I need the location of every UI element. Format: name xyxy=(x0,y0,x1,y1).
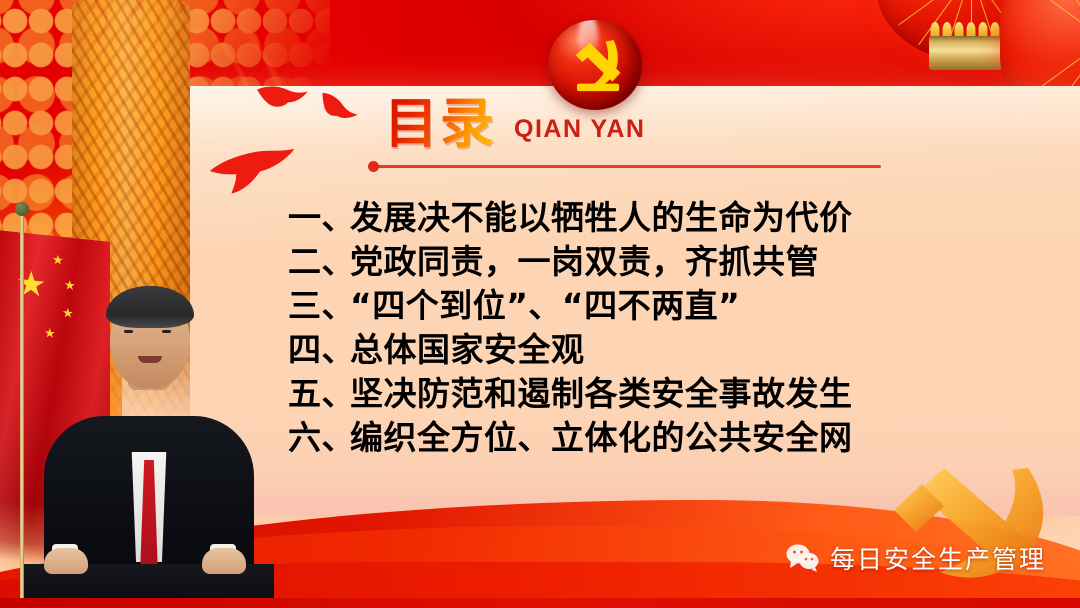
list-item[interactable]: 一、 发展决不能以牺牲人的生命为代价 xyxy=(288,196,988,240)
title-divider xyxy=(372,165,881,168)
bottom-accent-strip xyxy=(0,598,1080,608)
table-of-contents: 一、 发展决不能以牺牲人的生命为代价 二、 党政同责，一岗双责，齐抓共管 三、 … xyxy=(288,196,988,460)
dove-icon xyxy=(207,147,300,197)
list-item[interactable]: 六、 编织全方位、立体化的公共安全网 xyxy=(288,416,988,460)
page-title: 目录 xyxy=(384,96,496,152)
list-item-label: “四个到位”、“四不两直” xyxy=(350,284,740,328)
slide-title-row: 目录 QIAN YAN xyxy=(384,96,645,152)
list-item[interactable]: 三、 “四个到位”、“四不两直” xyxy=(288,284,988,328)
watermark: 每日安全生产管理 xyxy=(786,540,1046,576)
list-item-number: 一、 xyxy=(288,196,350,240)
list-item[interactable]: 四、 总体国家安全观 xyxy=(288,328,988,372)
watermark-label: 每日安全生产管理 xyxy=(830,540,1046,576)
list-item-label: 编织全方位、立体化的公共安全网 xyxy=(350,416,853,460)
list-item-number: 五、 xyxy=(288,372,350,416)
list-item-label: 党政同责，一岗双责，齐抓共管 xyxy=(350,240,819,284)
list-item-number: 六、 xyxy=(288,416,350,460)
flag-pole xyxy=(20,216,24,608)
list-item[interactable]: 五、 坚决防范和遏制各类安全事故发生 xyxy=(288,372,988,416)
leader-portrait xyxy=(44,290,254,608)
list-item-label: 坚决防范和遏制各类安全事故发生 xyxy=(350,372,853,416)
list-item-label: 发展决不能以牺牲人的生命为代价 xyxy=(350,196,853,240)
list-item-label: 总体国家安全观 xyxy=(350,328,585,372)
presentation-slide: 目录 QIAN YAN 一、 发展决不能以牺牲人的生命为代价 二、 党政同责，一… xyxy=(0,0,1080,608)
list-item[interactable]: 二、 党政同责，一岗双责，齐抓共管 xyxy=(288,240,988,284)
list-item-number: 三、 xyxy=(288,284,350,328)
page-subtitle: QIAN YAN xyxy=(514,115,645,152)
list-item-number: 四、 xyxy=(288,328,350,372)
list-item-number: 二、 xyxy=(288,240,350,284)
wechat-icon xyxy=(786,543,820,573)
